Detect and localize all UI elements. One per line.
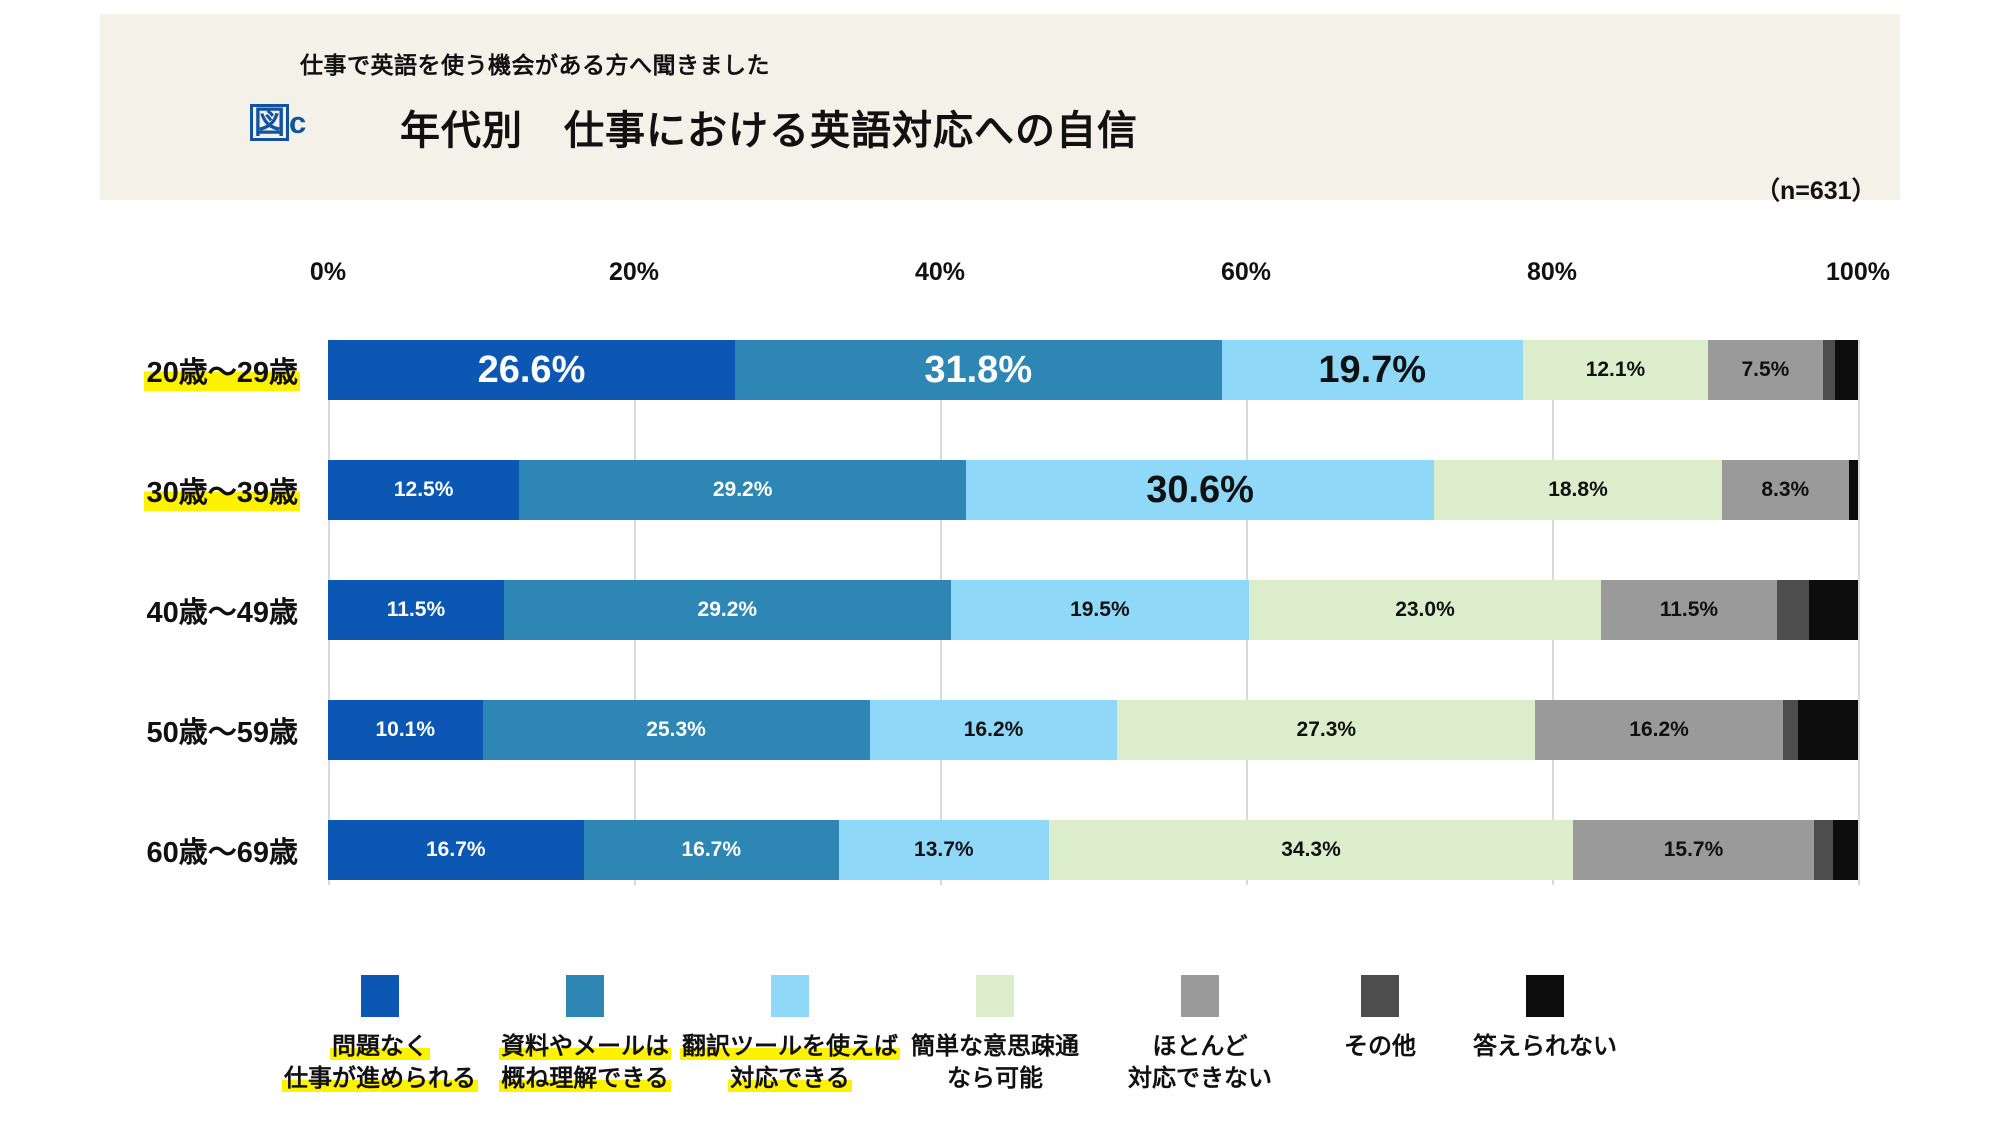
bar-segment[interactable]: 15.7% xyxy=(1573,820,1813,880)
bar-segment[interactable] xyxy=(1833,820,1857,880)
legend-swatch xyxy=(361,975,399,1017)
bar-segment-value: 16.2% xyxy=(1629,718,1689,742)
legend-label: その他 xyxy=(1342,1031,1418,1063)
bar-row: 40歳～49歳11.5%29.2%19.5%23.0%11.5% xyxy=(328,580,1858,640)
legend-label-line: なら可能 xyxy=(945,1065,1045,1092)
bar-row-label: 30歳～39歳 xyxy=(144,460,300,520)
legend-label-line: 簡単な意思疎通 xyxy=(909,1033,1081,1060)
bar-segment[interactable]: 27.3% xyxy=(1117,700,1535,760)
bar-segment-value: 18.8% xyxy=(1548,478,1608,502)
stacked-bar[interactable]: 26.6%31.8%19.7%12.1%7.5% xyxy=(328,340,1858,400)
legend-item[interactable]: 問題なく仕事が進められる xyxy=(280,975,480,1094)
legend-label: ほとんど対応できない xyxy=(1126,1031,1274,1094)
legend-item[interactable]: 翻訳ツールを使えば対応できる xyxy=(690,975,890,1094)
stacked-bar[interactable]: 10.1%25.3%16.2%27.3%16.2% xyxy=(328,700,1858,760)
chart-legend: 問題なく仕事が進められる資料やメールは概ね理解できる翻訳ツールを使えば対応できる… xyxy=(280,975,1880,1115)
legend-swatch xyxy=(566,975,604,1017)
legend-item[interactable]: ほとんど対応できない xyxy=(1100,975,1300,1094)
bar-segment[interactable] xyxy=(1849,460,1858,520)
bar-segment-value: 23.0% xyxy=(1395,598,1455,622)
bar-row: 30歳～39歳12.5%29.2%30.6%18.8%8.3% xyxy=(328,460,1858,520)
bar-segment[interactable]: 12.1% xyxy=(1523,340,1708,400)
bar-segment[interactable]: 16.2% xyxy=(870,700,1118,760)
bar-row: 20歳～29歳26.6%31.8%19.7%12.1%7.5% xyxy=(328,340,1858,400)
bar-segment[interactable]: 23.0% xyxy=(1249,580,1601,640)
bar-segment-value: 19.7% xyxy=(1318,349,1426,392)
bar-segment[interactable]: 30.6% xyxy=(966,460,1434,520)
bar-segment[interactable] xyxy=(1798,700,1858,760)
legend-label: 問題なく仕事が進められる xyxy=(282,1031,478,1094)
bar-segment[interactable]: 26.6% xyxy=(328,340,735,400)
bar-segment-value: 29.2% xyxy=(713,478,773,502)
legend-label-line: 対応できない xyxy=(1126,1065,1274,1092)
sample-size-note: （n=631） xyxy=(1755,171,1877,207)
bar-segment-value: 19.5% xyxy=(1070,598,1130,622)
bar-segment-value: 11.5% xyxy=(387,598,445,622)
x-tick-label-100%: 100% xyxy=(1826,258,1890,287)
legend-swatch xyxy=(771,975,809,1017)
bar-row-label-text: 40歳～49歳 xyxy=(144,589,300,631)
legend-label: 簡単な意思疎通なら可能 xyxy=(909,1031,1081,1094)
figure-tag-boxed: 図 xyxy=(250,104,289,141)
stacked-bar[interactable]: 11.5%29.2%19.5%23.0%11.5% xyxy=(328,580,1858,640)
bar-row-label-text: 60歳～69歳 xyxy=(144,829,300,871)
bar-segment[interactable] xyxy=(1814,820,1834,880)
legend-label-line: 問題なく xyxy=(330,1033,430,1060)
legend-label-line: 答えられない xyxy=(1471,1033,1619,1060)
header-band: 仕事で英語を使う機会がある方へ聞きました 図c 年代別 仕事における英語対応への… xyxy=(100,14,1900,200)
legend-label-line: 翻訳ツールを使えば xyxy=(680,1033,900,1060)
legend-label: 資料やメールは概ね理解できる xyxy=(499,1031,671,1094)
bar-row-label: 50歳～59歳 xyxy=(144,700,300,760)
x-tick-label-80%: 80% xyxy=(1527,258,1577,287)
bar-segment[interactable]: 25.3% xyxy=(483,700,870,760)
bar-row: 60歳～69歳16.7%16.7%13.7%34.3%15.7% xyxy=(328,820,1858,880)
bar-segment[interactable]: 34.3% xyxy=(1049,820,1574,880)
x-tick-label-20%: 20% xyxy=(609,258,659,287)
bar-segment-value: 12.5% xyxy=(394,478,454,502)
bar-segment[interactable] xyxy=(1835,340,1858,400)
bar-segment[interactable]: 11.5% xyxy=(1601,580,1777,640)
bar-segment[interactable] xyxy=(1777,580,1809,640)
legend-item[interactable]: 簡単な意思疎通なら可能 xyxy=(895,975,1095,1094)
bar-segment-value: 27.3% xyxy=(1297,718,1357,742)
bar-segment-value: 15.7% xyxy=(1664,838,1724,862)
stacked-bar[interactable]: 16.7%16.7%13.7%34.3%15.7% xyxy=(328,820,1858,880)
bar-segment[interactable]: 29.2% xyxy=(504,580,951,640)
bar-segment[interactable]: 10.1% xyxy=(328,700,483,760)
bar-row-label: 40歳～49歳 xyxy=(144,580,300,640)
legend-item[interactable]: 答えられない xyxy=(1445,975,1645,1063)
bar-segment-value: 34.3% xyxy=(1281,838,1341,862)
bar-row-label: 60歳～69歳 xyxy=(144,820,300,880)
bar-segment[interactable]: 31.8% xyxy=(735,340,1222,400)
page-title: 年代別 仕事における英語対応への自信 xyxy=(400,98,1138,156)
bar-segment[interactable]: 19.5% xyxy=(951,580,1249,640)
bar-segment[interactable]: 18.8% xyxy=(1434,460,1722,520)
stacked-bar[interactable]: 12.5%29.2%30.6%18.8%8.3% xyxy=(328,460,1858,520)
bar-segment[interactable]: 8.3% xyxy=(1722,460,1849,520)
bar-segment[interactable]: 29.2% xyxy=(519,460,966,520)
x-tick-label-60%: 60% xyxy=(1221,258,1271,287)
x-tick-label-40%: 40% xyxy=(915,258,965,287)
bar-segment[interactable]: 19.7% xyxy=(1222,340,1523,400)
chart-plot-area: 0%20%40%60%80%100% 20歳～29歳26.6%31.8%19.7… xyxy=(328,340,1858,885)
legend-item[interactable]: 資料やメールは概ね理解できる xyxy=(485,975,685,1094)
legend-swatch xyxy=(976,975,1014,1017)
bar-row-label-text: 50歳～59歳 xyxy=(144,709,300,751)
legend-label-line: 対応できる xyxy=(728,1065,852,1092)
bar-segment[interactable]: 7.5% xyxy=(1708,340,1823,400)
bar-row-label: 20歳～29歳 xyxy=(144,340,300,400)
legend-label: 翻訳ツールを使えば対応できる xyxy=(680,1031,900,1094)
bar-segment[interactable]: 11.5% xyxy=(328,580,504,640)
bar-segment[interactable]: 12.5% xyxy=(328,460,519,520)
bar-segment-value: 26.6% xyxy=(478,349,586,392)
legend-label: 答えられない xyxy=(1471,1031,1619,1063)
bar-segment[interactable]: 13.7% xyxy=(839,820,1049,880)
bar-segment-value: 12.1% xyxy=(1586,358,1646,382)
legend-label-line: 概ね理解できる xyxy=(499,1065,671,1092)
bar-segment-value: 25.3% xyxy=(646,718,706,742)
bar-segment-value: 30.6% xyxy=(1146,469,1254,512)
bar-segment[interactable]: 16.7% xyxy=(584,820,840,880)
bar-row-label-text: 20歳～29歳 xyxy=(144,349,300,391)
bar-row: 50歳～59歳10.1%25.3%16.2%27.3%16.2% xyxy=(328,700,1858,760)
bar-segment[interactable] xyxy=(1783,700,1798,760)
legend-swatch xyxy=(1526,975,1564,1017)
bar-segment[interactable] xyxy=(1809,580,1858,640)
figure-tag-suffix: c xyxy=(289,105,306,140)
figure-tag: 図c xyxy=(250,104,306,141)
bar-segment-value: 16.7% xyxy=(426,838,486,862)
bar-segment[interactable]: 16.2% xyxy=(1535,700,1783,760)
x-tick-label-0%: 0% xyxy=(310,258,346,287)
gridline-100 xyxy=(1858,340,1860,885)
bar-segment[interactable]: 16.7% xyxy=(328,820,584,880)
bar-segment-value: 29.2% xyxy=(698,598,758,622)
bar-segment[interactable] xyxy=(1823,340,1835,400)
chart-subtitle: 仕事で英語を使う機会がある方へ聞きました xyxy=(300,46,770,80)
legend-swatch xyxy=(1181,975,1219,1017)
bar-segment-value: 16.2% xyxy=(964,718,1024,742)
legend-label-line: 仕事が進められる xyxy=(282,1065,478,1092)
bar-segment-value: 7.5% xyxy=(1741,358,1789,382)
legend-label-line: 資料やメールは xyxy=(499,1033,671,1060)
legend-label-line: ほとんど xyxy=(1150,1033,1249,1060)
bar-segment-value: 31.8% xyxy=(924,349,1032,392)
bar-segment-value: 13.7% xyxy=(914,838,974,862)
legend-label-line: その他 xyxy=(1342,1033,1418,1060)
bar-segment-value: 10.1% xyxy=(375,718,435,742)
bar-segment-value: 11.5% xyxy=(1660,598,1718,622)
bar-segment-value: 8.3% xyxy=(1761,478,1809,502)
bar-row-label-text: 30歳～39歳 xyxy=(144,469,300,511)
bar-segment-value: 16.7% xyxy=(681,838,741,862)
legend-swatch xyxy=(1361,975,1399,1017)
